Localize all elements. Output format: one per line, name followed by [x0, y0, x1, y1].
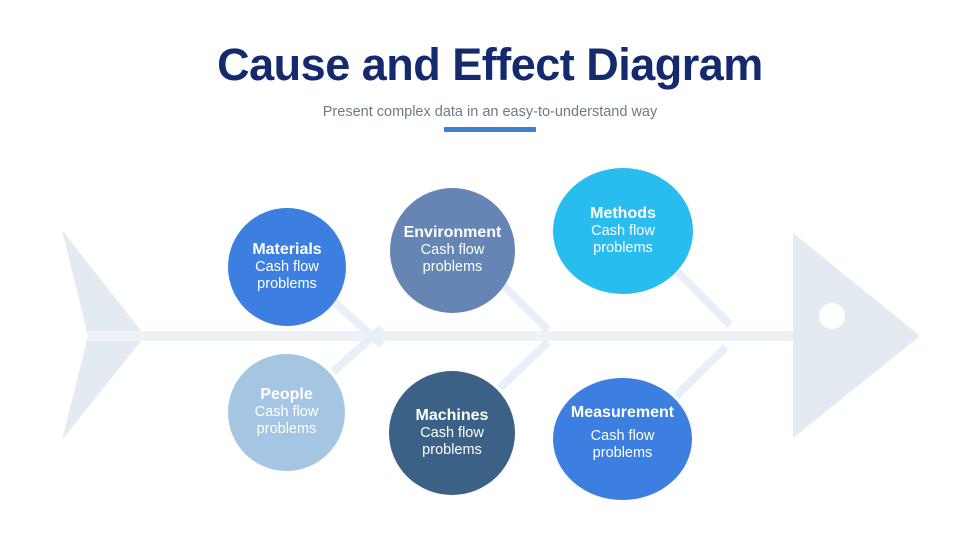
fish-spine: [88, 331, 798, 341]
node-title: Machines: [400, 407, 504, 425]
cause-node-environment[interactable]: Environment Cash flow problems: [390, 188, 515, 313]
node-title: People: [235, 386, 339, 404]
node-description: Cash flow problems: [239, 404, 335, 439]
cause-node-methods[interactable]: Methods Cash flow problems: [553, 168, 693, 294]
cause-node-measurement[interactable]: Measurement Cash flow problems: [553, 378, 692, 500]
node-title: Materials: [235, 241, 339, 259]
node-description: Cash flow problems: [575, 223, 671, 258]
bone-environment: [500, 282, 548, 330]
cause-node-people[interactable]: People Cash flow problems: [228, 354, 345, 471]
slide-canvas: Cause and Effect Diagram Present complex…: [0, 0, 980, 551]
cause-node-machines[interactable]: Machines Cash flow problems: [389, 371, 515, 495]
fish-eye: [819, 303, 845, 329]
node-description: Cash flow problems: [405, 242, 501, 277]
node-description: Cash flow problems: [404, 425, 500, 460]
bone-methods: [678, 272, 730, 325]
cause-node-materials[interactable]: Materials Cash flow problems: [228, 208, 346, 326]
node-title: Measurement: [569, 404, 677, 422]
node-text-stack: Measurement Cash flow problems: [553, 378, 692, 500]
node-description: Cash flow problems: [239, 259, 335, 294]
node-title: Environment: [401, 224, 505, 242]
bone-machines: [500, 342, 548, 388]
node-description: Cash flow problems: [575, 428, 671, 463]
node-title: Methods: [571, 205, 675, 223]
fish-head: [793, 233, 920, 438]
